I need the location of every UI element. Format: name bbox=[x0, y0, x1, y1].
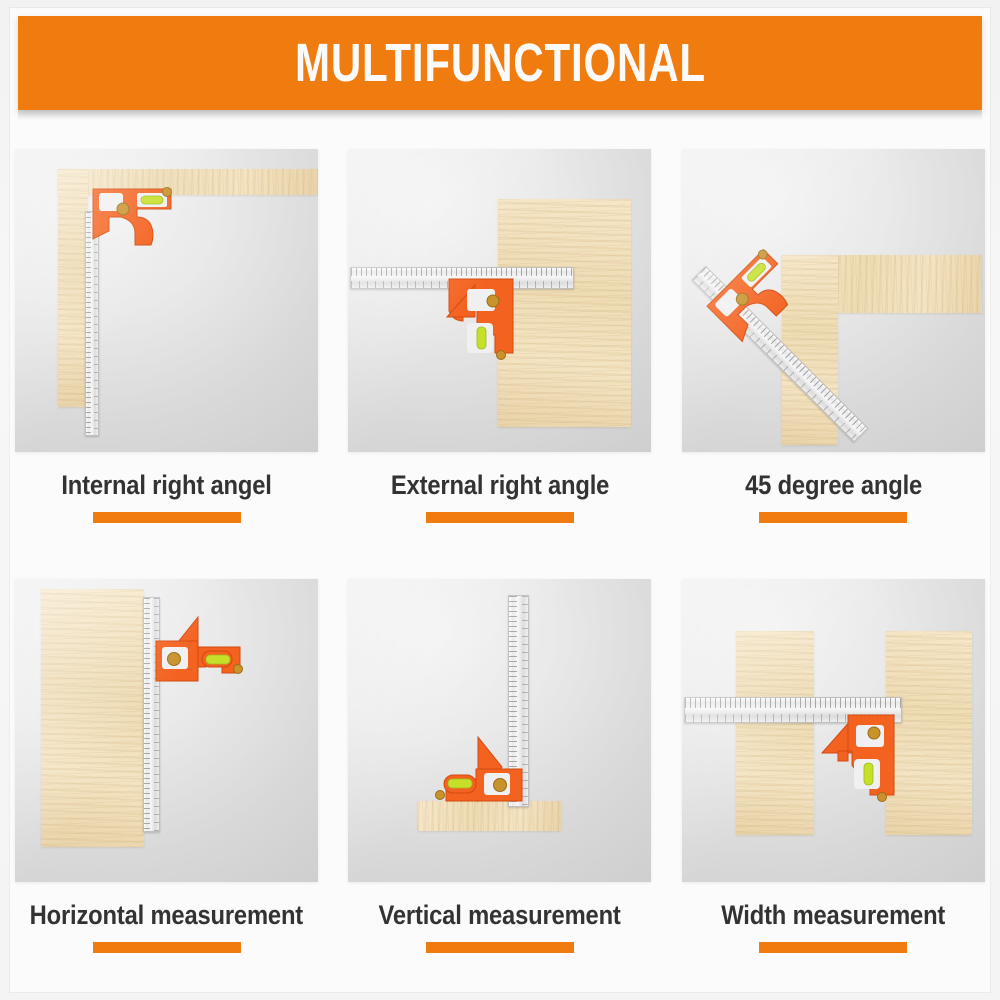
combination-square-head bbox=[434, 277, 526, 347]
ruler-tick-marks bbox=[685, 698, 901, 708]
feature-cell-width-measurement: Width measurement bbox=[667, 558, 1000, 988]
wood-board-vertical bbox=[58, 169, 88, 407]
caption-label: Horizontal measurement bbox=[30, 900, 303, 931]
feature-cell-horizontal-measurement: Horizontal measurement bbox=[0, 558, 333, 988]
banner-drop-shadow bbox=[18, 110, 982, 120]
feature-cell-internal-right-angel: Internal right angel bbox=[0, 128, 333, 558]
caption-label: External right angle bbox=[391, 470, 609, 501]
combination-square-head bbox=[91, 187, 183, 257]
caption-width-measurement: Width measurement bbox=[667, 900, 1000, 953]
feature-image-45-degree-angle bbox=[682, 149, 985, 452]
caption-label: 45 degree angle bbox=[745, 470, 922, 501]
caption-label: Width measurement bbox=[721, 900, 945, 931]
caption-vertical-measurement: Vertical measurement bbox=[333, 900, 666, 953]
caption-internal-right-angel: Internal right angel bbox=[0, 470, 333, 523]
feature-cell-vertical-measurement: Vertical measurement bbox=[333, 558, 666, 988]
feature-image-external-right-angle bbox=[348, 149, 651, 452]
ruler-tick-marks bbox=[351, 268, 573, 276]
feature-image-internal-right-angel bbox=[15, 149, 318, 452]
wood-board-vertical bbox=[41, 589, 144, 847]
feature-image-width-measurement bbox=[682, 579, 985, 882]
caption-label: Internal right angel bbox=[61, 470, 271, 501]
feature-image-horizontal-measurement bbox=[15, 579, 318, 882]
caption-underline bbox=[759, 942, 907, 953]
caption-horizontal-measurement: Horizontal measurement bbox=[0, 900, 333, 953]
caption-label: Vertical measurement bbox=[379, 900, 621, 931]
combination-square-head bbox=[820, 711, 912, 781]
caption-45-degree-angle: 45 degree angle bbox=[667, 470, 1000, 523]
caption-underline bbox=[426, 942, 574, 953]
caption-underline bbox=[93, 512, 241, 523]
header-banner: MULTIFUNCTIONAL bbox=[18, 16, 982, 110]
feature-grid: Internal right angel bbox=[0, 128, 1000, 988]
caption-external-right-angle: External right angle bbox=[333, 470, 666, 523]
combination-square-head bbox=[150, 611, 242, 681]
wood-board-horizontal bbox=[418, 801, 561, 831]
caption-underline bbox=[426, 512, 574, 523]
caption-underline bbox=[759, 512, 907, 523]
feature-image-vertical-measurement bbox=[348, 579, 651, 882]
caption-underline bbox=[93, 942, 241, 953]
feature-cell-45-degree-angle: 45 degree angle bbox=[667, 128, 1000, 558]
feature-cell-external-right-angle: External right angle bbox=[333, 128, 666, 558]
combination-square-head bbox=[432, 731, 524, 801]
page-title: MULTIFUNCTIONAL bbox=[295, 36, 706, 90]
wood-board-left bbox=[736, 631, 814, 835]
